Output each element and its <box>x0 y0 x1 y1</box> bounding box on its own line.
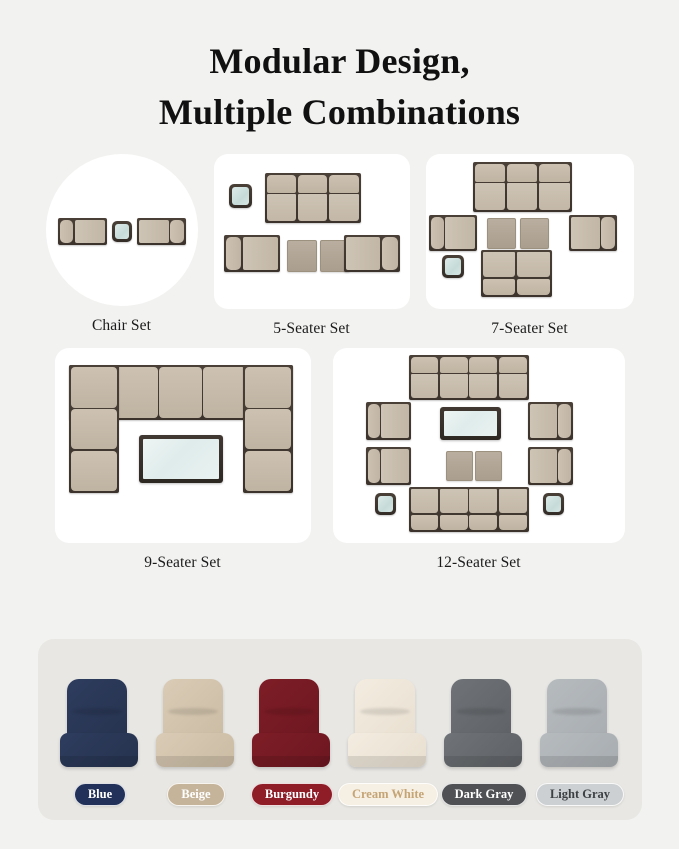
title-line-1: Modular Design, <box>0 36 679 87</box>
color-swatch-burgundy[interactable]: Burgundy <box>245 679 339 806</box>
color-label: Beige <box>167 783 224 806</box>
config-caption-7-seater: 7-Seater Set <box>491 320 568 338</box>
side-table <box>112 221 132 242</box>
armchair-right <box>344 235 400 272</box>
armchair-right-top <box>528 402 573 440</box>
sofa-3-seat <box>473 162 572 212</box>
seat-cushion <box>252 733 330 767</box>
armchair-left <box>429 215 477 251</box>
12-seater-diagram <box>333 348 625 543</box>
9-seater-diagram <box>55 348 311 543</box>
color-options-panel: BlueBeigeBurgundyCream WhiteDark GrayLig… <box>38 639 642 820</box>
armchair-right-bottom <box>528 447 573 485</box>
armchair-left <box>58 218 107 245</box>
config-card-9-seater[interactable]: 9-Seater Set <box>55 348 311 572</box>
cushion-illustration <box>250 679 334 773</box>
7-seater-diagram <box>426 154 634 309</box>
cushion-illustration <box>442 679 526 773</box>
color-swatch-cream-white[interactable]: Cream White <box>341 679 435 806</box>
armchair-right <box>137 218 186 245</box>
armchair-left-top <box>366 402 411 440</box>
side-table <box>229 184 252 208</box>
ottoman-2 <box>520 218 549 249</box>
armchair-right <box>569 215 617 251</box>
seat-cushion <box>60 733 138 767</box>
side-table <box>442 255 464 278</box>
cushion-illustration <box>58 679 142 773</box>
sectional-left-run <box>69 365 119 493</box>
side-table-right <box>543 493 564 515</box>
cushion-illustration <box>346 679 430 773</box>
config-card-7-seater[interactable]: 7-Seater Set <box>426 154 634 338</box>
config-card-5-seater[interactable]: 5-Seater Set <box>214 154 410 338</box>
cushion-illustration <box>538 679 622 773</box>
color-label: Burgundy <box>251 783 333 806</box>
sofa-3-seat <box>265 173 361 223</box>
armchair-left <box>224 235 280 272</box>
sofa-4-seat-top <box>409 355 529 400</box>
page-title: Modular Design, Multiple Combinations <box>0 0 679 138</box>
side-table-left <box>375 493 396 515</box>
config-card-12-seater[interactable]: 12-Seater Set <box>333 348 625 572</box>
configuration-row-bottom: 9-Seater Set 12-Seat <box>0 348 679 572</box>
config-caption-9-seater: 9-Seater Set <box>144 554 221 572</box>
ottoman-1 <box>487 218 516 249</box>
color-swatch-dark-gray[interactable]: Dark Gray <box>437 679 531 806</box>
sofa-4-seat-bottom <box>409 487 529 532</box>
chair-set-diagram <box>46 154 198 306</box>
color-swatch-row: BlueBeigeBurgundyCream WhiteDark GrayLig… <box>38 639 642 820</box>
color-swatch-beige[interactable]: Beige <box>149 679 243 806</box>
config-card-chair-set[interactable]: Chair Set <box>46 154 198 335</box>
seat-cushion <box>444 733 522 767</box>
color-label: Cream White <box>338 783 438 806</box>
title-line-2: Multiple Combinations <box>0 87 679 138</box>
color-swatch-blue[interactable]: Blue <box>53 679 147 806</box>
configuration-row-top: Chair Set 5-Seater Set <box>0 154 679 338</box>
color-label: Dark Gray <box>441 783 528 806</box>
color-label: Light Gray <box>536 783 624 806</box>
sectional-right-run <box>243 365 293 493</box>
seat-cushion <box>540 733 618 767</box>
seat-cushion <box>348 733 426 767</box>
color-swatch-light-gray[interactable]: Light Gray <box>533 679 627 806</box>
cushion-illustration <box>154 679 238 773</box>
color-label: Blue <box>74 783 126 806</box>
config-caption-12-seater: 12-Seater Set <box>436 554 520 572</box>
config-caption-5-seater: 5-Seater Set <box>273 320 350 338</box>
loveseat-2-seat <box>481 250 552 297</box>
ottoman-2 <box>475 451 502 481</box>
5-seater-diagram <box>214 154 410 309</box>
seat-cushion <box>156 733 234 767</box>
ottoman-1 <box>446 451 473 481</box>
config-caption-chair-set: Chair Set <box>92 317 151 335</box>
glass-coffee-table <box>440 407 501 440</box>
armchair-left-bottom <box>366 447 411 485</box>
glass-coffee-table <box>139 435 223 483</box>
ottoman-1 <box>287 240 317 272</box>
